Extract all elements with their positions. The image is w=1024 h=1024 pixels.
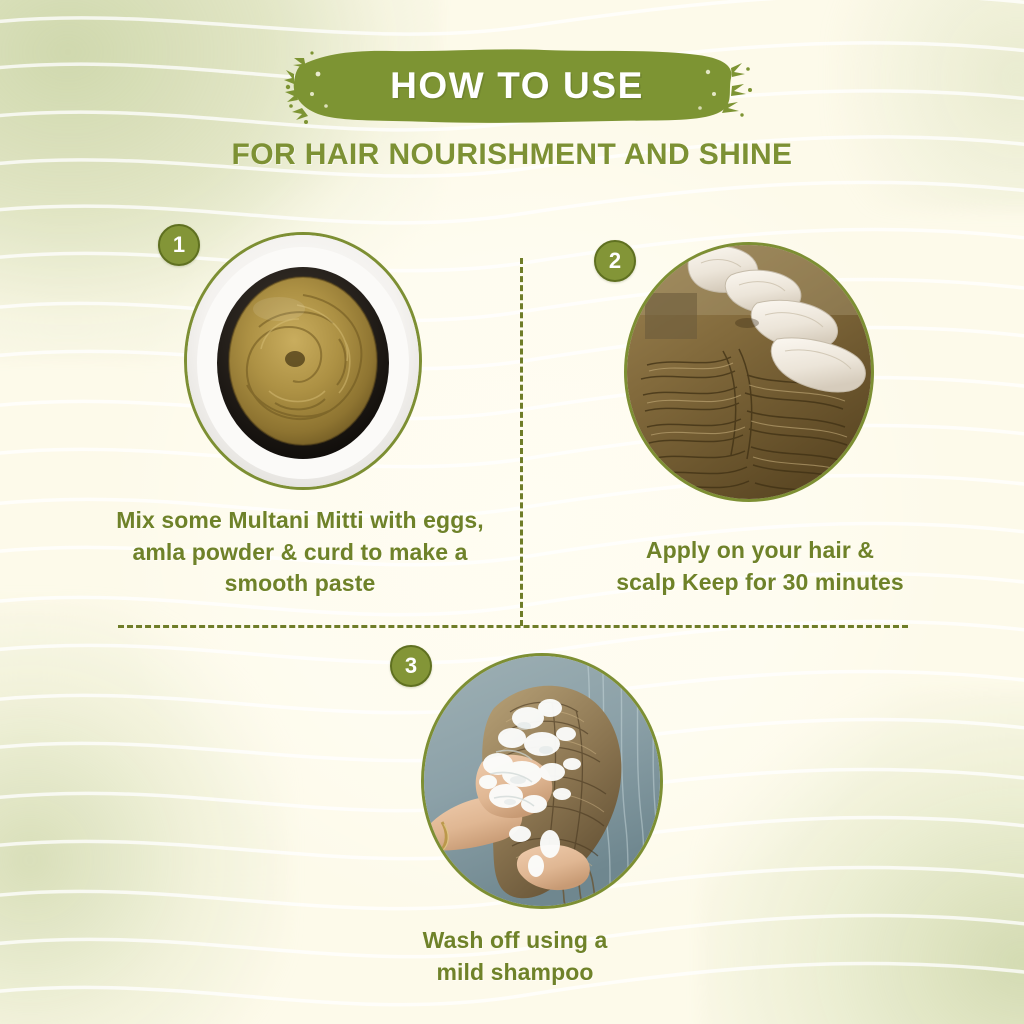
- header-banner: HOW TO USE: [282, 44, 752, 128]
- page-title: HOW TO USE: [282, 44, 752, 128]
- step-3-photo: [421, 653, 663, 909]
- step-2-caption: Apply on your hair & scalp Keep for 30 m…: [520, 535, 1000, 598]
- horizontal-dashed-divider: [118, 625, 908, 628]
- step-1-caption: Mix some Multani Mitti with eggs, amla p…: [60, 505, 540, 600]
- step-3-caption: Wash off using a mild shampoo: [290, 925, 740, 988]
- woman-washing-hair-image: [424, 656, 660, 906]
- step-1-photo: [184, 232, 422, 490]
- step-2-photo: [624, 242, 874, 502]
- gloved-hands-applying-paste-image: [627, 245, 871, 499]
- infographic-poster: HOW TO USE FOR HAIR NOURISHMENT AND SHIN…: [0, 0, 1024, 1024]
- page-subtitle: FOR HAIR NOURISHMENT AND SHINE: [0, 138, 1024, 172]
- step-number-badge-3: 3: [390, 645, 432, 687]
- step-number-badge-2: 2: [594, 240, 636, 282]
- step-number-badge-1: 1: [158, 224, 200, 266]
- bowl-of-multani-mitti-paste-image: [187, 235, 419, 487]
